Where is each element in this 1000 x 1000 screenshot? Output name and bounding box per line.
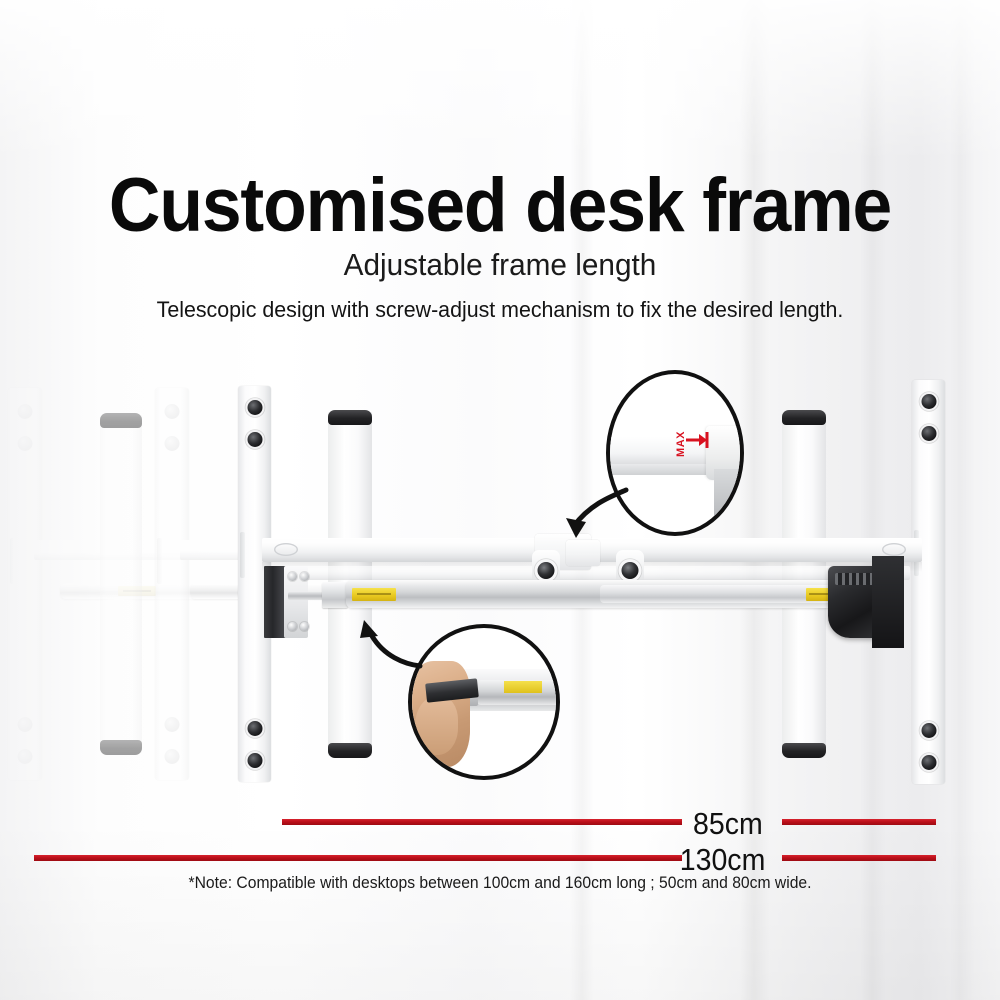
beam-mount-tab-right bbox=[616, 550, 644, 584]
adjust-nut bbox=[322, 582, 348, 608]
right-upright-leg bbox=[912, 380, 945, 784]
hand-thumb bbox=[415, 696, 458, 755]
max-arrow-icon bbox=[685, 432, 709, 448]
product-illustration: MAX bbox=[0, 0, 1000, 1000]
dimension-label-85cm: 85cm bbox=[693, 808, 763, 839]
rule-85cm-left bbox=[282, 819, 682, 825]
callout-upper-arrow-icon bbox=[552, 486, 632, 542]
beam-cap-left bbox=[274, 543, 298, 556]
beam-cap-right bbox=[882, 543, 906, 556]
detail-end-cap-2 bbox=[714, 469, 744, 516]
compatibility-note: *Note: Compatible with desktops between … bbox=[25, 875, 975, 892]
bracket-screw bbox=[300, 622, 309, 631]
rule-130cm-left bbox=[34, 855, 682, 861]
rule-130cm-right bbox=[782, 855, 936, 861]
left-mount-bracket bbox=[264, 566, 286, 638]
motor-mount-plate bbox=[872, 556, 904, 648]
bracket-screw bbox=[288, 572, 297, 581]
bracket-screw bbox=[300, 572, 309, 581]
rule-85cm-right bbox=[782, 819, 936, 825]
mount-bolt bbox=[538, 562, 555, 579]
mount-bolt bbox=[622, 562, 639, 579]
bracket-screw bbox=[288, 622, 297, 631]
ghost-leg bbox=[8, 388, 42, 780]
callout-lower-content bbox=[412, 628, 556, 776]
detail-warning-label bbox=[504, 681, 541, 693]
foot-pad-bottom bbox=[328, 743, 372, 758]
dimension-label-130cm: 130cm bbox=[680, 844, 766, 875]
callout-lower-arrow-icon bbox=[356, 618, 426, 672]
beam-center-block-2 bbox=[566, 540, 600, 566]
ghost-foot bbox=[100, 415, 142, 753]
foot-pad-top bbox=[328, 410, 372, 425]
warning-label-left bbox=[352, 588, 396, 601]
callout-screw-adjust bbox=[408, 624, 560, 780]
adjust-rod bbox=[288, 592, 326, 600]
ghost-leg bbox=[155, 388, 189, 780]
foot-pad-top bbox=[782, 410, 826, 425]
beam-mount-tab-left bbox=[532, 550, 560, 584]
foot-pad-bottom bbox=[782, 743, 826, 758]
